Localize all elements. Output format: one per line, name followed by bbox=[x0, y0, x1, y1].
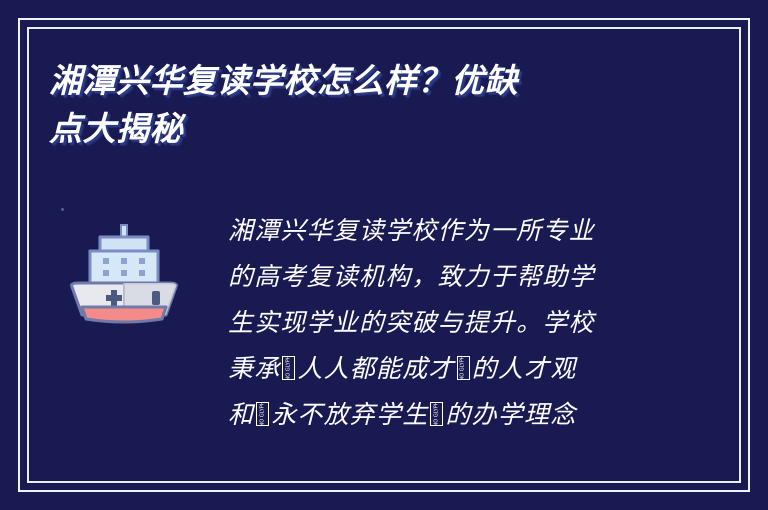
body-line-3: 生实现学业的突破与提升。学校 bbox=[228, 300, 648, 346]
body-line-4-suffix: 的人才观 bbox=[472, 354, 577, 383]
missing-glyph-box bbox=[256, 402, 269, 426]
title-line-2: 点大揭秘 bbox=[49, 105, 649, 153]
body-paragraph: 湘潭兴华复读学校作为一所专业 的高考复读机构，致力于帮助学 生实现学业的突破与提… bbox=[228, 208, 648, 438]
body-line-5-suffix: 的办学理念 bbox=[445, 400, 576, 429]
missing-glyph-box bbox=[430, 402, 443, 426]
missing-glyph-box bbox=[282, 356, 295, 380]
body-line-4-mid: 人人都能成才 bbox=[297, 354, 454, 383]
background-speck bbox=[61, 208, 64, 211]
poster-canvas: 湘潭兴华复读学校怎么样？优缺 点大揭秘 bbox=[0, 0, 768, 510]
body-line-2: 的高考复读机构，致力于帮助学 bbox=[228, 254, 648, 300]
missing-glyph-box bbox=[457, 356, 470, 380]
body-line-1: 湘潭兴华复读学校作为一所专业 bbox=[228, 208, 648, 254]
page-title: 湘潭兴华复读学校怎么样？优缺 点大揭秘 bbox=[49, 57, 649, 153]
body-line-5-prefix: 和 bbox=[228, 400, 254, 429]
body-line-5: 和永不放弃学生的办学理念 bbox=[228, 392, 648, 438]
title-line-1: 湘潭兴华复读学校怎么样？优缺 bbox=[49, 57, 649, 105]
body-line-4-prefix: 秉承 bbox=[228, 354, 280, 383]
cargo-ship-icon bbox=[66, 221, 182, 333]
body-line-4: 秉承人人都能成才的人才观 bbox=[228, 346, 648, 392]
body-line-5-mid: 永不放弃学生 bbox=[271, 400, 428, 429]
